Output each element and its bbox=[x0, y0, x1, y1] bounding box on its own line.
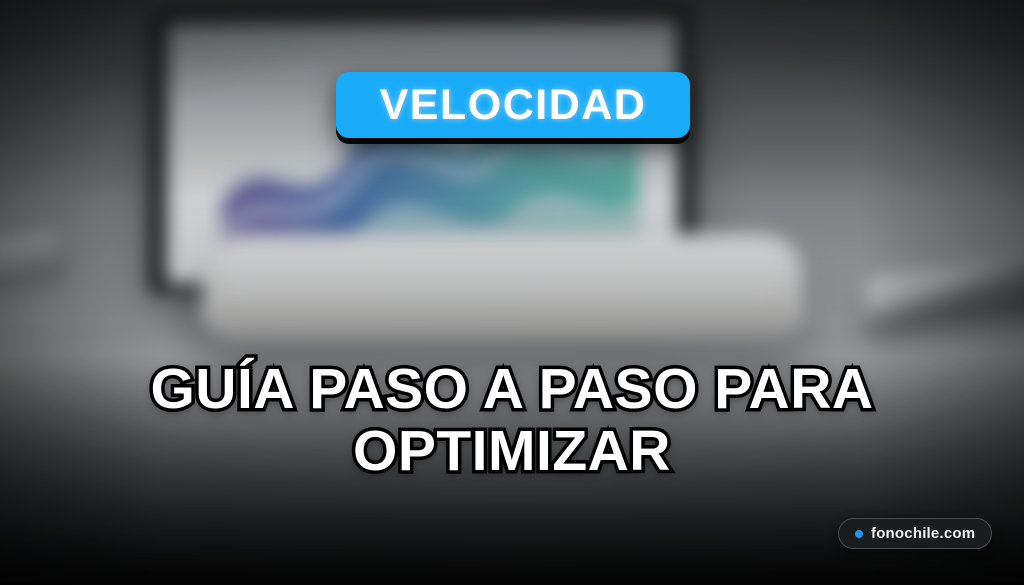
velocidad-badge: VELOCIDAD bbox=[336, 72, 690, 138]
velocidad-badge-label: VELOCIDAD bbox=[380, 84, 647, 127]
thumbnail-canvas: VELOCIDAD GUÍA PASO A PASO PARA OPTIMIZA… bbox=[0, 0, 1024, 585]
router-top-surface bbox=[217, 238, 790, 297]
watermark-dot-icon bbox=[855, 530, 863, 538]
wifi-router-device bbox=[200, 234, 806, 344]
desk-sheen bbox=[0, 346, 1024, 452]
watermark-label: fonochile.com bbox=[871, 525, 975, 542]
watermark-badge[interactable]: fonochile.com bbox=[838, 518, 992, 549]
router-bottom-edge bbox=[206, 310, 800, 343]
